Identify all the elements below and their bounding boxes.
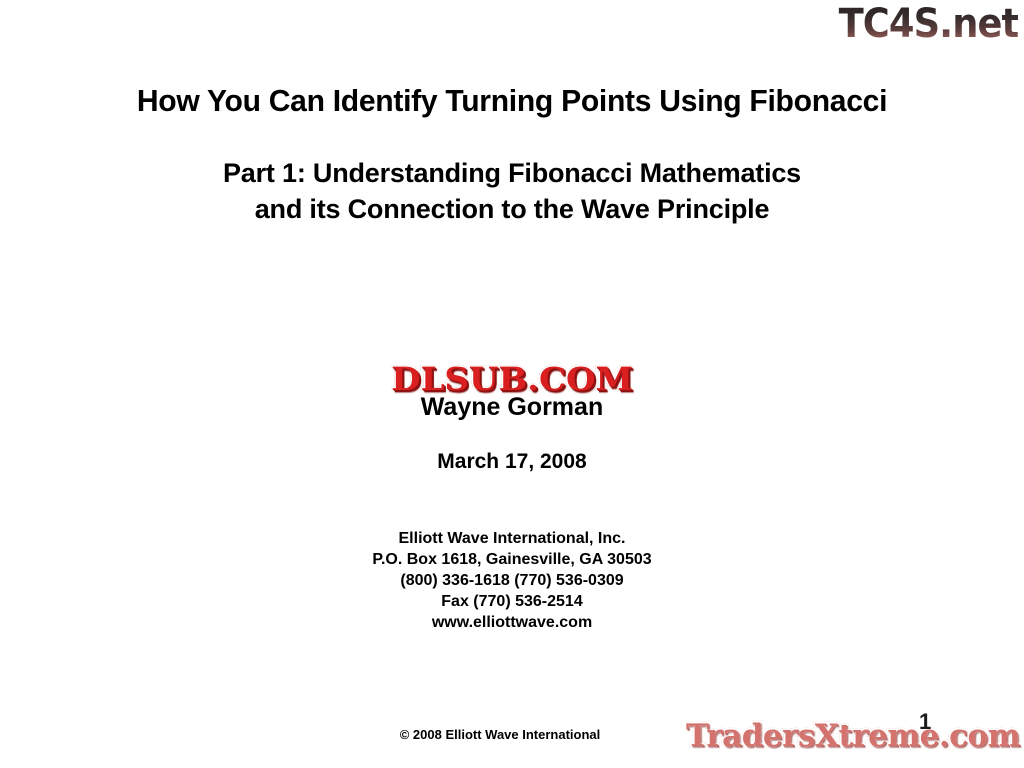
contact-website: www.elliottwave.com	[0, 612, 1024, 633]
subtitle-line-1: Part 1: Understanding Fibonacci Mathemat…	[0, 155, 1024, 191]
presenter-name: Wayne Gorman	[0, 392, 1024, 422]
subtitle-line-2: and its Connection to the Wave Principle	[0, 191, 1024, 227]
slide-subtitle: Part 1: Understanding Fibonacci Mathemat…	[0, 155, 1024, 227]
contact-fax: Fax (770) 536-2514	[0, 591, 1024, 612]
slide-page-number: 1	[919, 710, 931, 734]
presentation-slide: TC4S.net How You Can Identify Turning Po…	[0, 0, 1024, 768]
tc4s-watermark-logo: TC4S.net	[838, 2, 1018, 46]
contact-block: Elliott Wave International, Inc. P.O. Bo…	[0, 528, 1024, 633]
copyright-notice: © 2008 Elliott Wave International	[245, 727, 755, 743]
contact-address: P.O. Box 1618, Gainesville, GA 30503	[0, 549, 1024, 570]
page-title: How You Can Identify Turning Points Usin…	[15, 83, 1008, 119]
contact-company: Elliott Wave International, Inc.	[0, 528, 1024, 549]
presentation-date: March 17, 2008	[0, 449, 1024, 475]
contact-phones: (800) 336-1618 (770) 536-0309	[0, 570, 1024, 591]
